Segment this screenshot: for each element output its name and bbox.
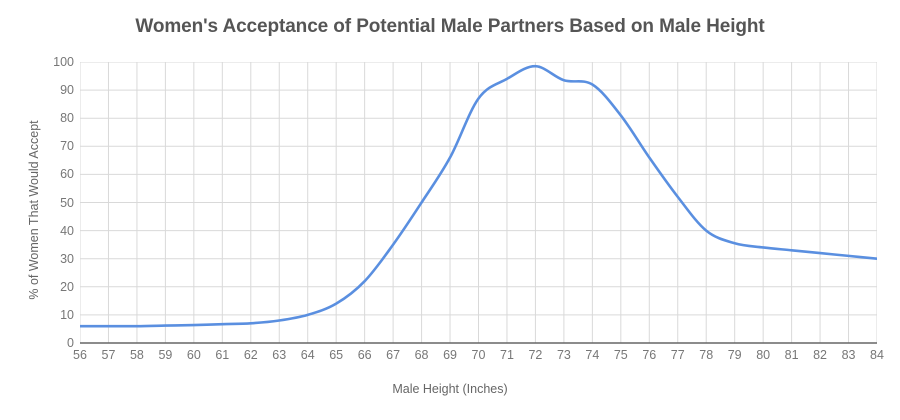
plot-area [80,62,877,344]
x-tick-label-71: 71 [500,348,514,362]
x-tick-label-61: 61 [215,348,229,362]
x-tick-label-73: 73 [557,348,571,362]
x-tick-label-62: 62 [244,348,258,362]
x-tick-label-60: 60 [187,348,201,362]
y-tick-label-100: 100 [0,55,74,69]
x-tick-label-81: 81 [785,348,799,362]
y-tick-label-80: 80 [0,111,74,125]
y-tick-label-0: 0 [0,336,74,350]
x-tick-label-77: 77 [671,348,685,362]
x-tick-label-63: 63 [272,348,286,362]
y-tick-label-20: 20 [0,280,74,294]
x-tick-label-65: 65 [329,348,343,362]
x-tick-label-78: 78 [699,348,713,362]
x-tick-label-82: 82 [813,348,827,362]
x-tick-label-72: 72 [528,348,542,362]
x-tick-label-80: 80 [756,348,770,362]
y-tick-label-40: 40 [0,224,74,238]
x-axis-tick-labels: 5657585960616263646566676869707172737475… [80,348,877,368]
chart-svg [80,62,877,344]
x-axis-title: Male Height (Inches) [0,382,900,396]
x-tick-label-57: 57 [102,348,116,362]
x-tick-label-56: 56 [73,348,87,362]
y-tick-label-90: 90 [0,83,74,97]
x-tick-label-58: 58 [130,348,144,362]
x-tick-label-69: 69 [443,348,457,362]
x-tick-label-68: 68 [415,348,429,362]
x-tick-label-83: 83 [842,348,856,362]
x-tick-label-74: 74 [585,348,599,362]
x-tick-label-75: 75 [614,348,628,362]
x-tick-label-70: 70 [472,348,486,362]
x-tick-label-64: 64 [301,348,315,362]
x-tick-label-59: 59 [158,348,172,362]
x-tick-label-79: 79 [728,348,742,362]
y-tick-label-70: 70 [0,139,74,153]
y-tick-label-50: 50 [0,196,74,210]
x-tick-label-67: 67 [386,348,400,362]
y-tick-label-60: 60 [0,167,74,181]
x-tick-label-84: 84 [870,348,884,362]
chart-title: Women's Acceptance of Potential Male Par… [0,16,900,38]
x-tick-label-76: 76 [642,348,656,362]
chart-container: Women's Acceptance of Potential Male Par… [0,0,900,420]
x-tick-label-66: 66 [358,348,372,362]
y-axis-tick-labels: 0102030405060708090100 [0,62,74,344]
y-tick-label-30: 30 [0,252,74,266]
y-tick-label-10: 10 [0,308,74,322]
